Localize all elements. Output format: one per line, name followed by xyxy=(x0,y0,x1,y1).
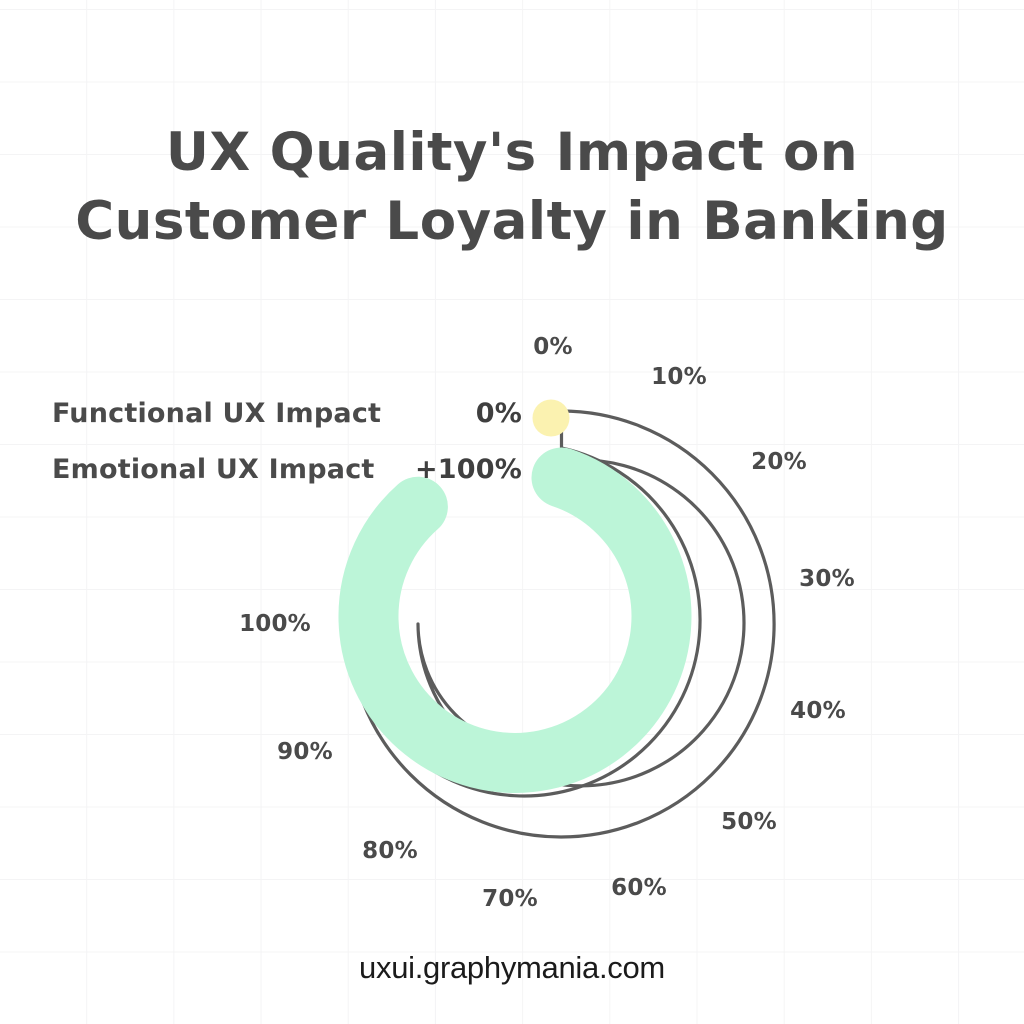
legend-label-functional: Functional UX Impact xyxy=(52,398,381,429)
footer-url: uxui.graphymania.com xyxy=(359,950,665,985)
gauge-tick-30: 30% xyxy=(799,566,855,592)
gauge-tick-40: 40% xyxy=(790,698,846,724)
legend-row-functional[interactable]: Functional UX Impact 0% xyxy=(52,398,522,454)
gauge-tick-50: 50% xyxy=(721,809,777,835)
gauge-tick-20: 20% xyxy=(751,449,807,475)
gauge-tick-90: 90% xyxy=(277,739,333,765)
emotional-ux-value-arc xyxy=(368,478,661,763)
gauge-tick-80: 80% xyxy=(362,838,418,864)
gauge-tick-100: 100% xyxy=(239,611,311,637)
legend-label-emotional: Emotional UX Impact xyxy=(52,454,375,485)
gauge-tick-10: 10% xyxy=(651,364,707,390)
radial-gauge-chart xyxy=(0,0,1024,1024)
gauge-tick-0: 0% xyxy=(533,334,572,360)
chart-legend: Functional UX Impact 0% Emotional UX Imp… xyxy=(52,398,522,510)
functional-ux-value-dot xyxy=(533,400,570,437)
legend-row-emotional[interactable]: Emotional UX Impact +100% xyxy=(52,454,522,510)
legend-value-emotional: +100% xyxy=(415,454,522,485)
poster-canvas: UX Quality's Impact on Customer Loyalty … xyxy=(0,0,1024,1024)
footer: uxui.graphymania.com xyxy=(0,950,1024,986)
legend-value-functional: 0% xyxy=(476,398,522,429)
gauge-tick-60: 60% xyxy=(611,875,667,901)
gauge-tick-70: 70% xyxy=(482,886,538,912)
